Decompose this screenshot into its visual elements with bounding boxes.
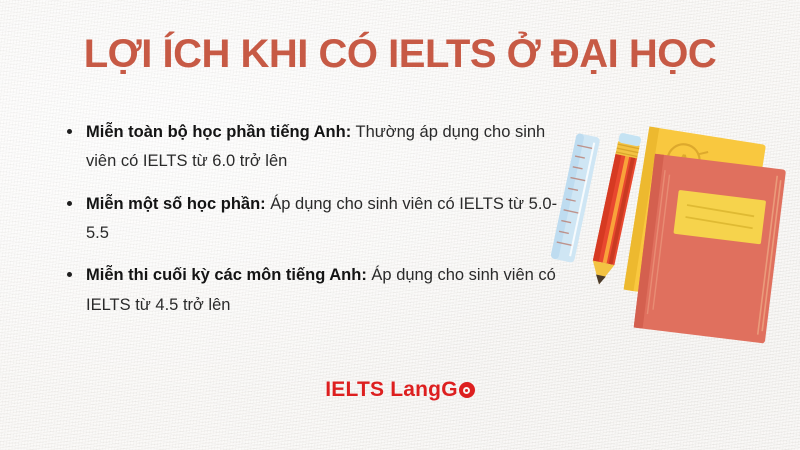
- school-supplies-illustration: A: [535, 115, 800, 345]
- logo-text-ielts: IELTS: [325, 378, 384, 401]
- list-item-lead: Miễn một số học phần:: [86, 195, 266, 213]
- slide-canvas: LỢI ÍCH KHI CÓ IELTS Ở ĐẠI HỌC Miễn toàn…: [0, 0, 800, 450]
- logo-text-lang: LangG: [390, 378, 458, 401]
- page-title: LỢI ÍCH KHI CÓ IELTS Ở ĐẠI HỌC: [0, 32, 800, 76]
- list-item: Miễn thi cuối kỳ các môn tiếng Anh: Áp d…: [60, 261, 560, 320]
- benefits-list: Miễn toàn bộ học phần tiếng Anh: Thường …: [60, 118, 560, 320]
- list-item-lead: Miễn toàn bộ học phần tiếng Anh:: [86, 123, 351, 141]
- brand-logo: IELTS LangG: [0, 378, 800, 402]
- list-item: Miễn toàn bộ học phần tiếng Anh: Thường …: [60, 118, 560, 177]
- bullet-dot-icon: [67, 129, 72, 134]
- list-item-lead: Miễn thi cuối kỳ các môn tiếng Anh:: [86, 266, 367, 284]
- target-o-icon: [459, 382, 475, 398]
- bullet-dot-icon: [67, 272, 72, 277]
- ruler-icon: [550, 133, 600, 263]
- red-notebook-icon: [634, 154, 786, 344]
- bullet-dot-icon: [67, 201, 72, 206]
- list-item: Miễn một số học phần: Áp dụng cho sinh v…: [60, 190, 560, 249]
